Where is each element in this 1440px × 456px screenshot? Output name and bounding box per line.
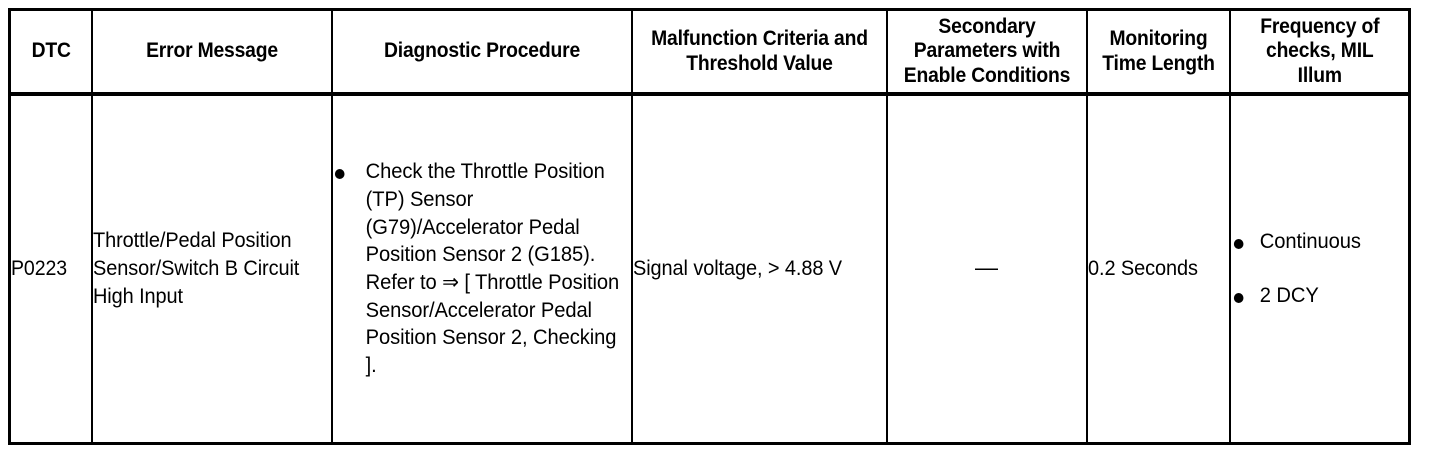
column-header-malfunction-criteria: Malfunction Criteria and Threshold Value xyxy=(642,10,877,95)
cell-diagnostic-procedure: Check the Throttle Position (TP) Sensor … xyxy=(332,94,632,443)
column-header-diagnostic-procedure: Diagnostic Procedure xyxy=(344,10,620,95)
diagnostic-procedure-list: Check the Throttle Position (TP) Sensor … xyxy=(333,158,631,380)
cell-frequency-of-checks: Continuous 2 DCY xyxy=(1230,94,1410,443)
cell-secondary-parameters: — xyxy=(887,94,1087,443)
list-item: Check the Throttle Position (TP) Sensor … xyxy=(333,158,619,380)
cell-malfunction-criteria: Signal voltage, > 4.88 V xyxy=(632,94,887,443)
column-header-error-message: Error Message xyxy=(101,10,322,95)
frequency-of-checks-list: Continuous 2 DCY xyxy=(1231,228,1409,309)
column-header-dtc: DTC xyxy=(13,10,88,95)
list-item: 2 DCY xyxy=(1231,282,1401,310)
bullet-icon xyxy=(1233,293,1243,303)
dtc-reference-table: DTC Error Message Diagnostic Procedure M… xyxy=(8,8,1411,445)
table-header: DTC Error Message Diagnostic Procedure M… xyxy=(10,10,1410,95)
column-header-secondary-parameters: Secondary Parameters with Enable Conditi… xyxy=(895,10,1079,95)
cell-dtc-code: P0223 xyxy=(10,94,92,443)
frequency-of-checks-text: 2 DCY xyxy=(1259,284,1318,307)
list-item: Continuous xyxy=(1231,228,1401,256)
error-message-value: Throttle/Pedal Position Sensor/Switch B … xyxy=(93,227,319,310)
table-body: P0223 Throttle/Pedal Position Sensor/Swi… xyxy=(10,94,1410,443)
page-root: DTC Error Message Diagnostic Procedure M… xyxy=(0,0,1440,456)
bullet-icon xyxy=(334,169,344,179)
table-header-row: DTC Error Message Diagnostic Procedure M… xyxy=(10,10,1410,95)
dtc-code-value: P0223 xyxy=(11,255,67,283)
column-header-monitoring-time-length: Monitoring Time Length xyxy=(1092,10,1224,95)
cell-error-message: Throttle/Pedal Position Sensor/Switch B … xyxy=(92,94,332,443)
monitoring-time-length-value: 0.2 Seconds xyxy=(1088,255,1222,283)
frequency-of-checks-text: Continuous xyxy=(1259,230,1360,253)
secondary-parameters-value: — xyxy=(975,256,998,279)
cell-monitoring-time-length: 0.2 Seconds xyxy=(1087,94,1230,443)
malfunction-criteria-value: Signal voltage, > 4.88 V xyxy=(633,255,873,283)
table-row: P0223 Throttle/Pedal Position Sensor/Swi… xyxy=(10,94,1410,443)
column-header-frequency-of-checks: Frequency of checks, MIL Illum xyxy=(1237,10,1403,95)
diagnostic-procedure-text: Check the Throttle Position (TP) Sensor … xyxy=(365,160,618,377)
bullet-icon xyxy=(1233,239,1243,249)
